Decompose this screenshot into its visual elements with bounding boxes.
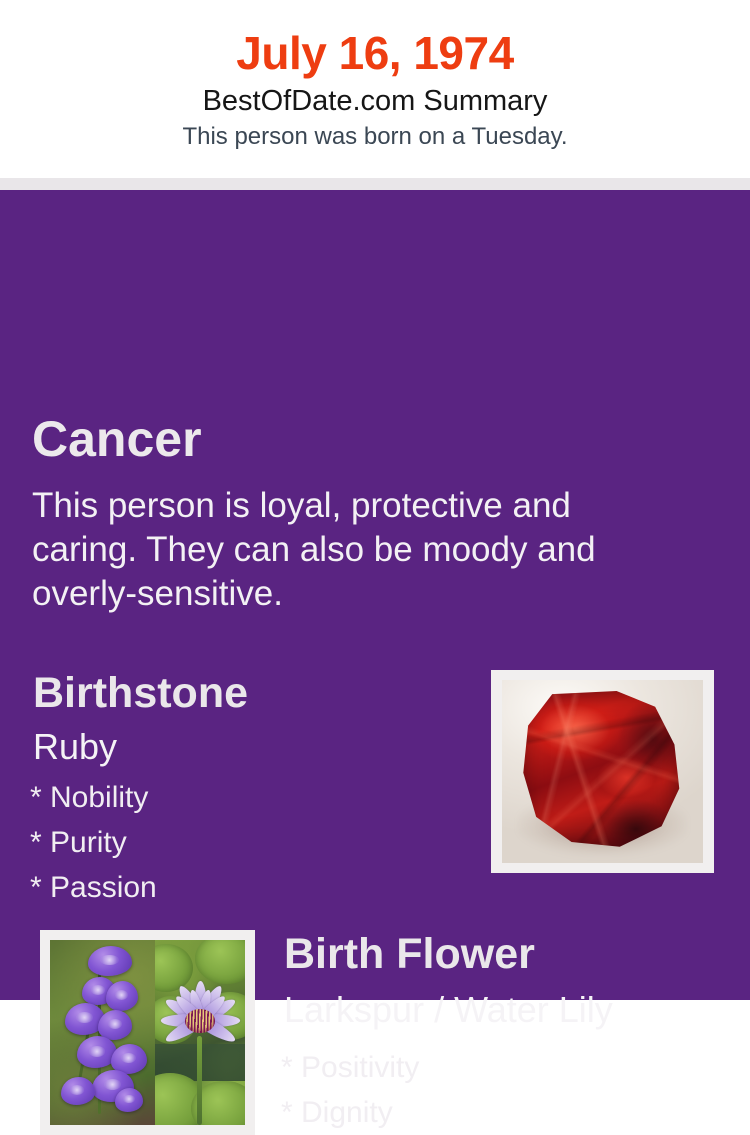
- lily-stem: [197, 1036, 202, 1125]
- site-name-subtitle: BestOfDate.com Summary: [0, 82, 750, 120]
- list-item: * Nobility: [30, 775, 157, 820]
- birthstone-image-frame: [491, 670, 714, 873]
- list-item: * Positivity: [281, 1045, 419, 1090]
- birth-flower-trait-list: * Positivity * Dignity: [281, 1045, 419, 1135]
- summary-panel: Cancer This person is loyal, protective …: [0, 190, 750, 1000]
- larkspur-photo: [50, 940, 155, 1125]
- birthstone-heading: Birthstone: [33, 668, 248, 718]
- list-item: * Passion: [30, 865, 157, 910]
- page-header: July 16, 1974 BestOfDate.com Summary Thi…: [0, 0, 750, 178]
- zodiac-sign-heading: Cancer: [32, 409, 202, 469]
- weekday-statement: This person was born on a Tuesday.: [0, 121, 750, 153]
- larkspur-flower-icon: [61, 1077, 95, 1105]
- larkspur-flower-icon: [115, 1088, 143, 1112]
- lily-stamen-center: [185, 1009, 215, 1033]
- list-item: * Dignity: [281, 1090, 419, 1135]
- larkspur-flower-icon: [88, 946, 132, 976]
- birth-flower-image-frame: [40, 930, 255, 1135]
- zodiac-description: This person is loyal, protective and car…: [32, 484, 652, 616]
- larkspur-flower-icon: [98, 1010, 132, 1040]
- birth-flower-name: Larkspur / Water Lily: [284, 988, 613, 1032]
- page-title-date: July 16, 1974: [0, 26, 750, 80]
- water-lily-photo: [155, 940, 245, 1125]
- header-divider: [0, 178, 750, 190]
- list-item: * Purity: [30, 820, 157, 865]
- larkspur-flower-icon: [111, 1044, 147, 1074]
- birthstone-name: Ruby: [33, 725, 117, 769]
- birth-flower-image: [50, 940, 245, 1125]
- birth-flower-heading: Birth Flower: [284, 928, 535, 980]
- ruby-photo-background: [502, 680, 703, 863]
- flower-image-split: [50, 940, 245, 1125]
- larkspur-flower-icon: [106, 981, 138, 1011]
- birthstone-image: [502, 680, 703, 863]
- birthstone-trait-list: * Nobility * Purity * Passion: [30, 775, 157, 910]
